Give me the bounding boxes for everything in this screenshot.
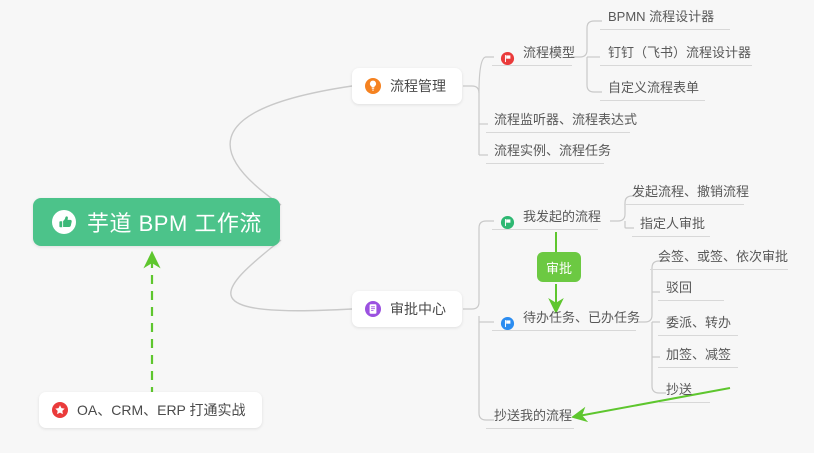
label-add-remove-sign: 加签、减签 xyxy=(666,346,731,368)
node-start-cancel-process[interactable]: 发起流程、撤销流程 xyxy=(624,177,755,205)
label-process-listener-expression: 流程监听器、流程表达式 xyxy=(494,111,637,133)
footer-note-node[interactable]: OA、CRM、ERP 打通实战 xyxy=(39,392,262,428)
node-add-remove-sign[interactable]: 加签、减签 xyxy=(658,340,737,368)
node-cc[interactable]: 抄送 xyxy=(658,375,698,403)
underline-delegate-transfer xyxy=(658,335,738,336)
node-countersign-orsign-sequential[interactable]: 会签、或签、依次审批 xyxy=(650,242,794,270)
underline-designated-approver xyxy=(632,236,710,237)
connector-root-to-process-management xyxy=(230,86,352,205)
underline-countersign-orsign-sequential xyxy=(650,269,788,270)
label-dingtalk-feishu-designer: 钉钉（飞书）流程设计器 xyxy=(608,44,751,66)
label-delegate-transfer: 委派、转办 xyxy=(666,314,731,336)
underline-process-model xyxy=(492,65,572,66)
underline-todo-done-tasks xyxy=(492,330,636,331)
label-cc-to-me-process: 抄送我的流程 xyxy=(494,407,572,429)
node-process-listener-expression[interactable]: 流程监听器、流程表达式 xyxy=(486,105,643,133)
underline-start-cancel-process xyxy=(624,204,744,205)
purple-doc-icon xyxy=(364,300,382,318)
red-flag-icon xyxy=(500,51,515,66)
underline-add-remove-sign xyxy=(658,367,738,368)
root-label: 芋道 BPM 工作流 xyxy=(87,206,262,238)
node-dingtalk-feishu-designer[interactable]: 钉钉（飞书）流程设计器 xyxy=(600,38,757,66)
label-process-model: 流程模型 xyxy=(523,44,575,66)
label-bpmn-designer: BPMN 流程设计器 xyxy=(608,8,714,30)
orange-lightbulb-icon xyxy=(364,77,382,95)
root-node[interactable]: 芋道 BPM 工作流 xyxy=(33,198,280,246)
blue-flag-icon xyxy=(500,316,515,331)
label-reject: 驳回 xyxy=(666,279,692,301)
label-custom-process-form: 自定义流程表单 xyxy=(608,79,699,101)
node-cc-to-me-process[interactable]: 抄送我的流程 xyxy=(486,401,578,429)
label-start-cancel-process: 发起流程、撤销流程 xyxy=(632,183,749,205)
underline-reject xyxy=(658,300,724,301)
underline-custom-process-form xyxy=(600,100,705,101)
approval-tag[interactable]: 审批 xyxy=(537,252,581,282)
green-flag-icon xyxy=(500,215,515,230)
mindmap-canvas: 芋道 BPM 工作流 OA、CRM、ERP 打通实战 流程管理 xyxy=(0,0,814,453)
label-process-instance-task: 流程实例、流程任务 xyxy=(494,142,611,164)
branch-node-approval-center[interactable]: 审批中心 xyxy=(352,291,462,327)
node-reject[interactable]: 驳回 xyxy=(658,273,698,301)
branch-label-process-management: 流程管理 xyxy=(390,76,446,96)
connector-approval-center-trunk xyxy=(463,221,494,309)
connector-process-management-trunk xyxy=(463,86,479,155)
label-countersign-orsign-sequential: 会签、或签、依次审批 xyxy=(658,248,788,270)
label-todo-done-tasks: 待办任务、已办任务 xyxy=(523,309,640,331)
underline-dingtalk-feishu-designer xyxy=(600,65,752,66)
footer-note-label: OA、CRM、ERP 打通实战 xyxy=(77,400,246,420)
underline-cc xyxy=(658,402,710,403)
underline-cc-to-me-process xyxy=(486,428,574,429)
node-my-initiated-process[interactable]: 我发起的流程 xyxy=(492,202,607,230)
branch-node-process-management[interactable]: 流程管理 xyxy=(352,68,462,104)
branch-label-approval-center: 审批中心 xyxy=(390,299,446,319)
underline-process-instance-task xyxy=(486,163,604,164)
node-bpmn-designer[interactable]: BPMN 流程设计器 xyxy=(600,2,720,30)
underline-bpmn-designer xyxy=(600,29,730,30)
thumbs-up-icon xyxy=(51,209,77,235)
label-cc: 抄送 xyxy=(666,381,692,403)
approval-tag-label: 审批 xyxy=(546,258,572,277)
node-delegate-transfer[interactable]: 委派、转办 xyxy=(658,308,737,336)
node-process-instance-task[interactable]: 流程实例、流程任务 xyxy=(486,136,617,164)
node-process-model[interactable]: 流程模型 xyxy=(492,38,581,66)
node-todo-done-tasks[interactable]: 待办任务、已办任务 xyxy=(492,303,646,331)
node-custom-process-form[interactable]: 自定义流程表单 xyxy=(600,73,705,101)
underline-my-initiated-process xyxy=(492,229,598,230)
label-my-initiated-process: 我发起的流程 xyxy=(523,208,601,230)
label-designated-approver: 指定人审批 xyxy=(640,215,705,237)
red-star-icon xyxy=(51,401,69,419)
underline-process-listener-expression xyxy=(486,132,630,133)
node-designated-approver[interactable]: 指定人审批 xyxy=(632,209,711,237)
connector-root-to-approval-center xyxy=(231,240,352,311)
